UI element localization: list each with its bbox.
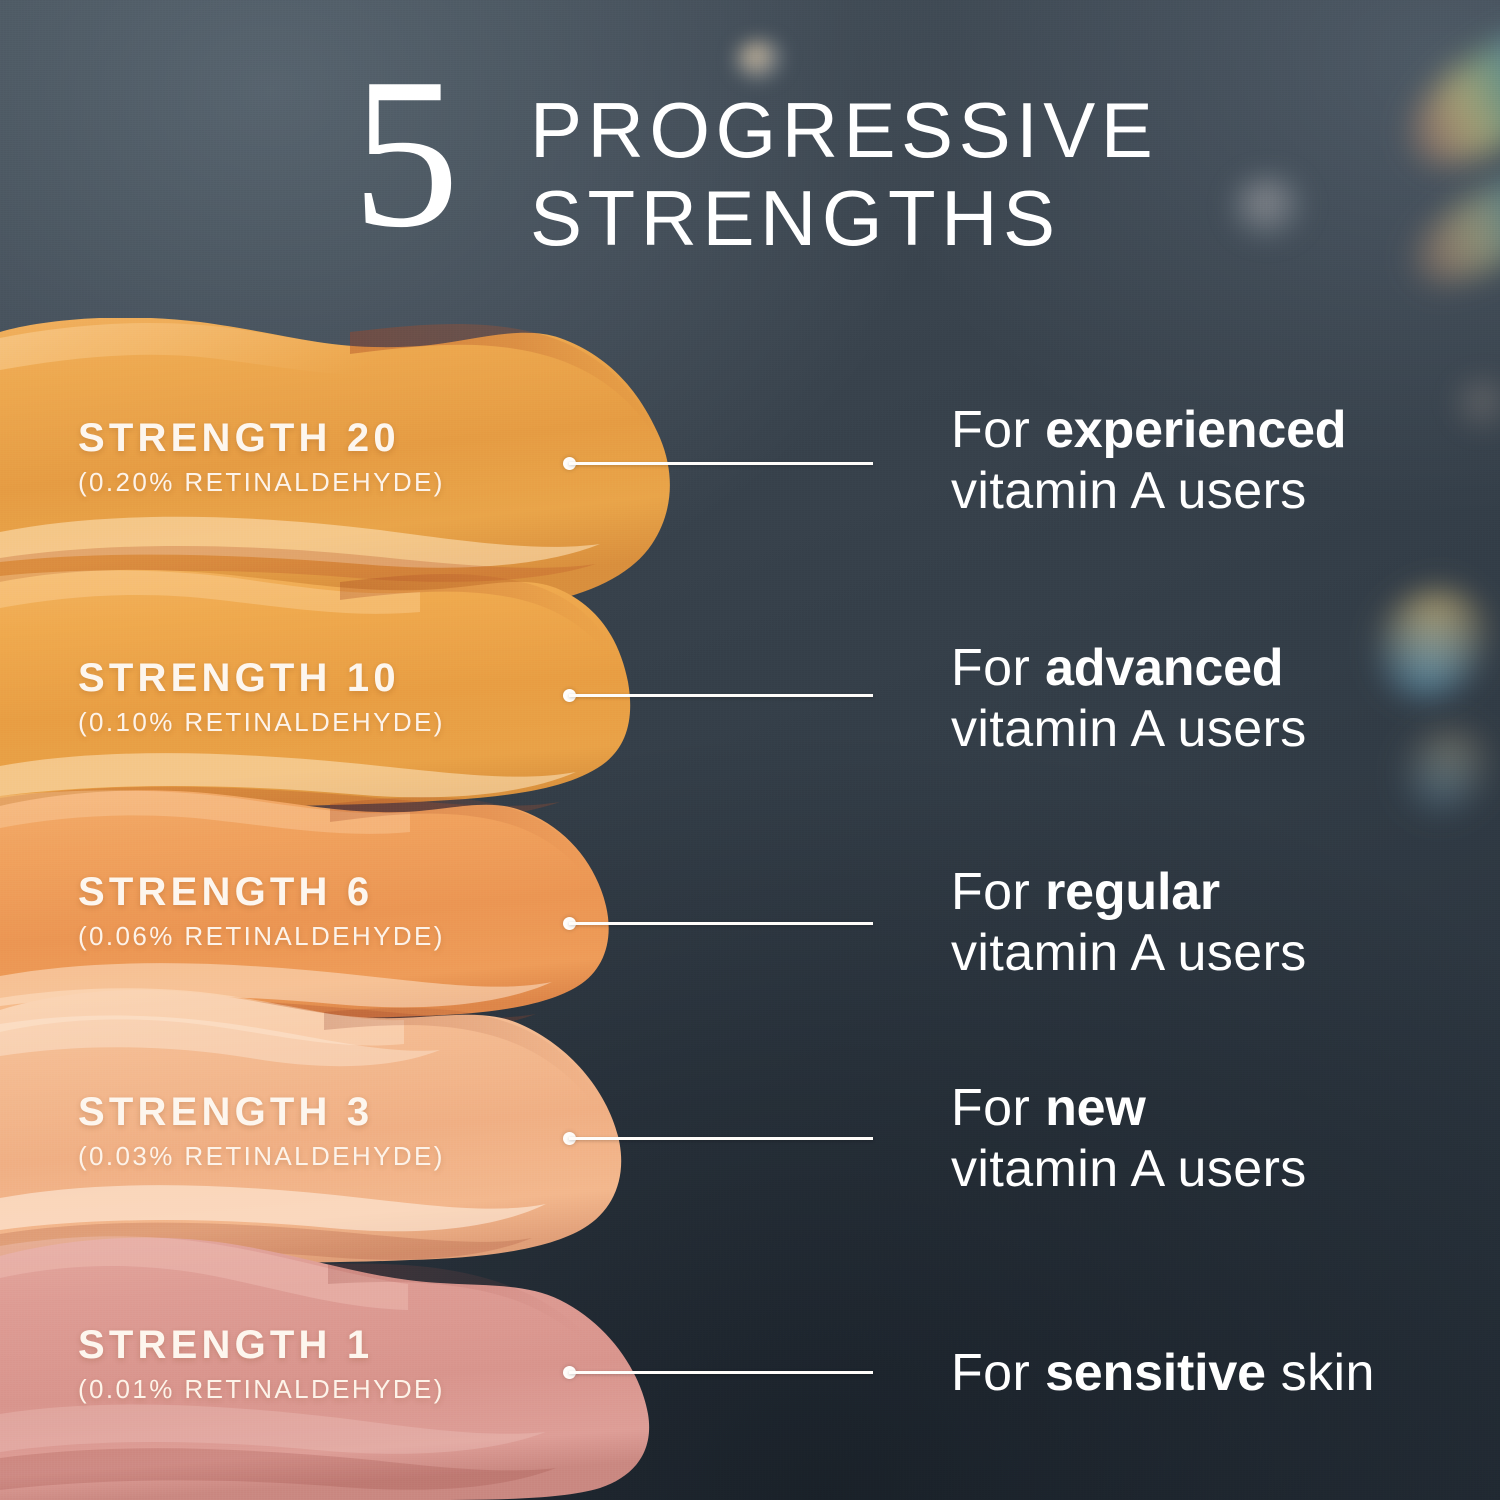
strength-concentration: (0.03% RETINALDEHYDE) — [78, 1141, 445, 1172]
description-line-2: vitamin A users — [951, 461, 1346, 522]
strength-title: STRENGTH 1 — [78, 1323, 445, 1368]
description-line-1: For experienced — [951, 400, 1346, 461]
lens-flare-dot-right-warm — [1452, 376, 1500, 432]
description-line-1: For regular — [951, 862, 1307, 923]
desc-emphasis: sensitive — [1045, 1344, 1266, 1402]
description-line-1: For sensitive skin — [951, 1343, 1375, 1404]
description-strength-1: For sensitive skin — [951, 1343, 1375, 1404]
desc-emphasis: new — [1045, 1079, 1146, 1137]
desc-emphasis: advanced — [1045, 639, 1283, 697]
lens-flare-streak-upper-right — [1387, 0, 1500, 191]
strength-title: STRENGTH 6 — [78, 870, 445, 915]
connector-bar — [569, 1137, 873, 1140]
connector-line-strength-10 — [563, 688, 873, 702]
connector-line-strength-3 — [563, 1131, 873, 1145]
desc-prefix: For — [951, 639, 1045, 697]
lens-flare-prismatic-oval-2 — [1383, 710, 1500, 832]
lens-flare-streak-upper-right-2 — [1395, 147, 1500, 304]
description-strength-6: For regular vitamin A users — [951, 862, 1307, 984]
strength-concentration: (0.01% RETINALDEHYDE) — [78, 1374, 445, 1405]
connector-bar — [569, 1371, 873, 1374]
description-strength-20: For experienced vitamin A users — [951, 400, 1346, 522]
infographic-canvas: 5 PROGRESSIVE STRENGTHS STRENGTH 20 (0.2… — [0, 0, 1500, 1500]
swatch-label-strength-10: STRENGTH 10 (0.10% RETINALDEHYDE) — [78, 656, 445, 738]
title-numeral: 5 — [352, 58, 458, 247]
swatch-label-strength-20: STRENGTH 20 (0.20% RETINALDEHYDE) — [78, 416, 445, 498]
strength-title: STRENGTH 20 — [78, 416, 445, 461]
description-line-1: For new — [951, 1078, 1307, 1139]
connector-bar — [569, 694, 873, 697]
desc-emphasis: regular — [1045, 863, 1220, 921]
desc-prefix: For — [951, 1079, 1045, 1137]
swatch-label-strength-1: STRENGTH 1 (0.01% RETINALDEHYDE) — [78, 1323, 445, 1405]
description-line-1: For advanced — [951, 638, 1307, 699]
swatch-label-strength-6: STRENGTH 6 (0.06% RETINALDEHYDE) — [78, 870, 445, 952]
swatch-label-strength-3: STRENGTH 3 (0.03% RETINALDEHYDE) — [78, 1090, 445, 1172]
lens-flare-prismatic-oval — [1353, 566, 1500, 722]
connector-line-strength-6 — [563, 916, 873, 930]
desc-prefix: For — [951, 401, 1045, 459]
strength-concentration: (0.10% RETINALDEHYDE) — [78, 707, 445, 738]
description-line-2: vitamin A users — [951, 699, 1307, 760]
lens-flare-dot-title-right — [1232, 176, 1306, 238]
desc-suffix: skin — [1266, 1344, 1375, 1402]
description-line-2: vitamin A users — [951, 923, 1307, 984]
desc-prefix: For — [951, 863, 1045, 921]
connector-line-strength-1 — [563, 1365, 873, 1379]
connector-bar — [569, 922, 873, 925]
strength-title: STRENGTH 10 — [78, 656, 445, 701]
desc-emphasis: experienced — [1045, 401, 1346, 459]
strength-concentration: (0.06% RETINALDEHYDE) — [78, 921, 445, 952]
title-text: PROGRESSIVE STRENGTHS — [530, 86, 1158, 262]
connector-bar — [569, 462, 873, 465]
description-strength-3: For new vitamin A users — [951, 1078, 1307, 1200]
strength-title: STRENGTH 3 — [78, 1090, 445, 1135]
strength-concentration: (0.20% RETINALDEHYDE) — [78, 467, 445, 498]
connector-line-strength-20 — [563, 456, 873, 470]
description-strength-10: For advanced vitamin A users — [951, 638, 1307, 760]
description-line-2: vitamin A users — [951, 1139, 1307, 1200]
desc-prefix: For — [951, 1344, 1045, 1402]
